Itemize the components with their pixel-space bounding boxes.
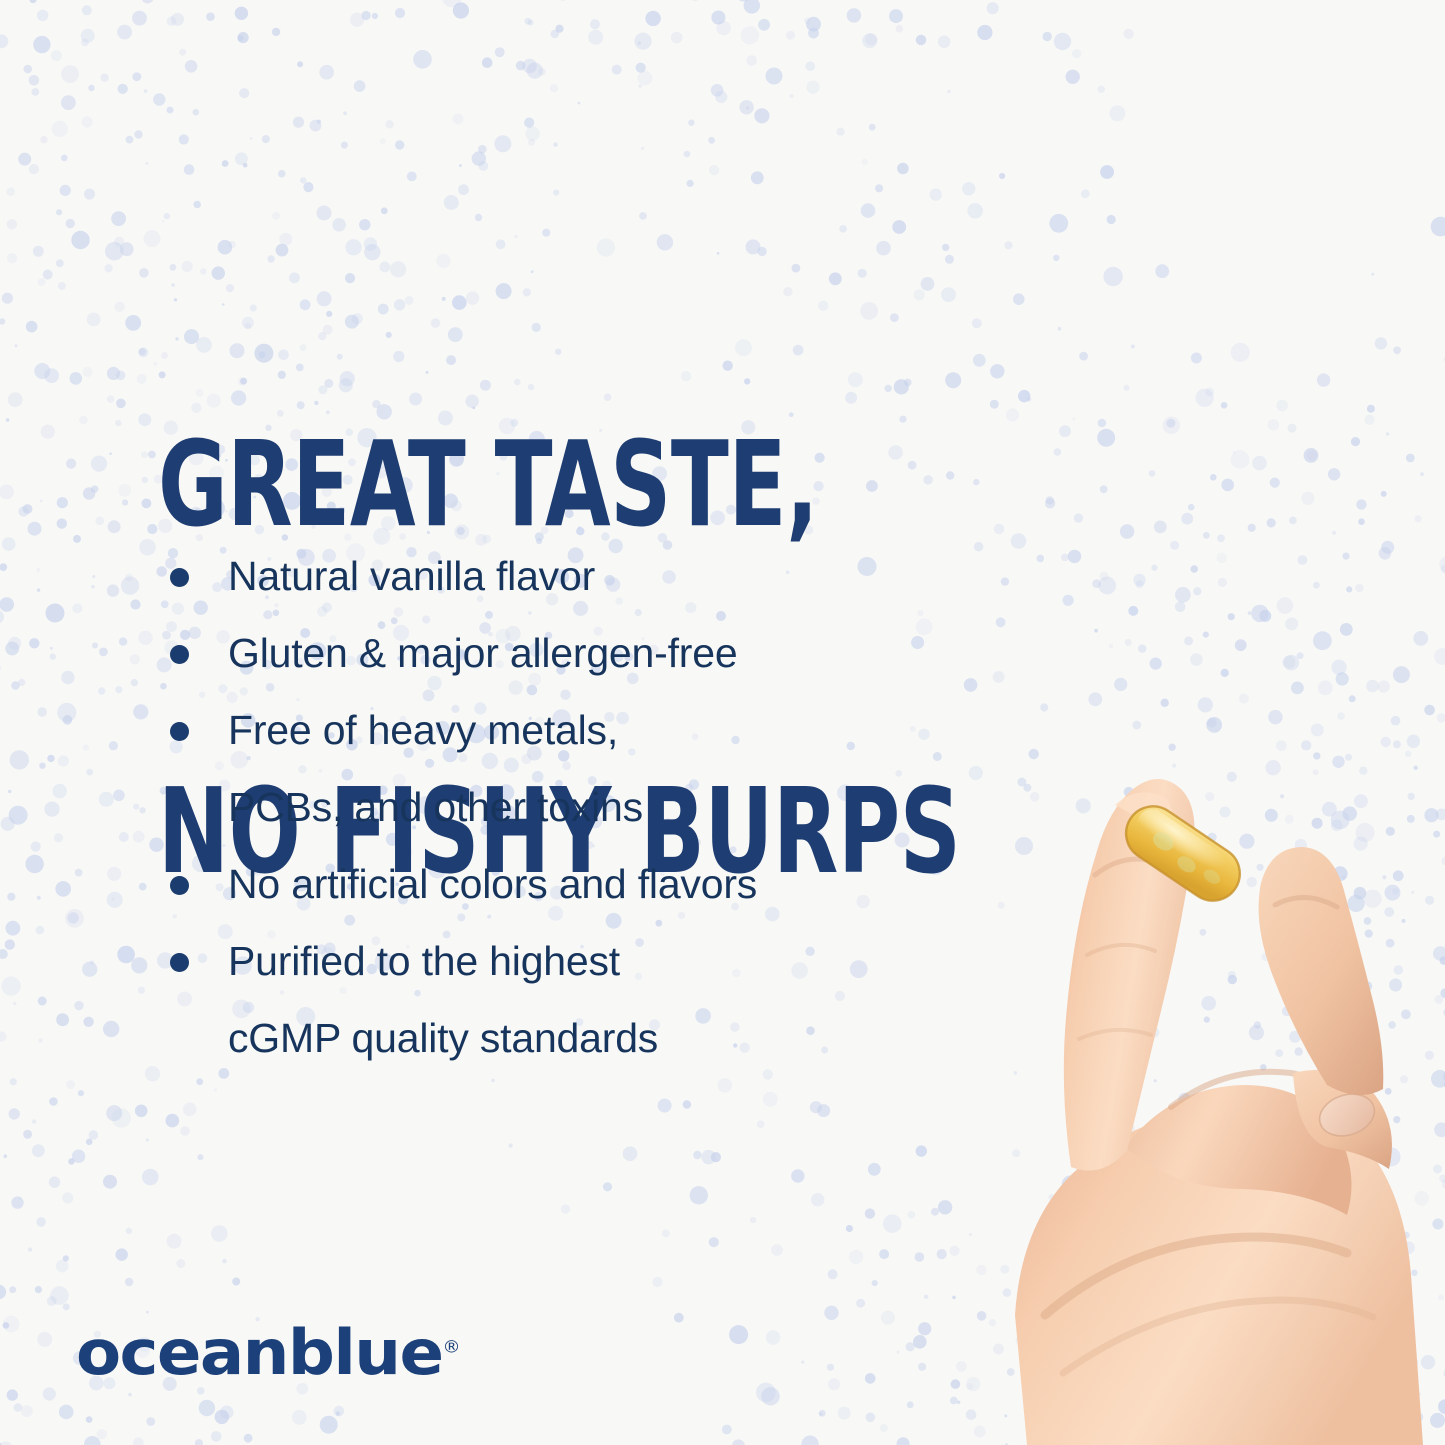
headline-line-1: GREAT TASTE, <box>158 427 766 543</box>
feature-list: Natural vanilla flavor Gluten & major al… <box>168 548 998 1087</box>
registered-trademark-icon: ® <box>442 1337 460 1357</box>
list-item: Purified to the highest cGMP quality sta… <box>168 933 998 1087</box>
hand-holding-capsule-image <box>975 755 1445 1445</box>
bullet-dot-icon <box>170 645 189 664</box>
list-item-line: Free of heavy metals, <box>228 702 998 779</box>
list-item: No artificial colors and flavors <box>168 856 998 933</box>
list-item-line: cGMP quality standards <box>228 1010 998 1087</box>
list-item: Free of heavy metals, PCBs, and other to… <box>168 702 998 856</box>
list-item: Natural vanilla flavor <box>168 548 998 625</box>
bullet-dot-icon <box>170 722 189 741</box>
bullet-dot-icon <box>170 876 189 895</box>
list-item-line: PCBs, and other toxins <box>228 779 998 856</box>
list-item-line: Purified to the highest <box>228 933 998 1010</box>
bullet-dot-icon <box>170 953 189 972</box>
logo-wordmark: oceanblue <box>76 1316 442 1389</box>
list-item-line: Gluten & major allergen-free <box>228 625 998 702</box>
list-item-line: Natural vanilla flavor <box>228 548 998 625</box>
bullet-dot-icon <box>170 568 189 587</box>
promo-graphic: GREAT TASTE, NO FISHY BURPS Natural vani… <box>0 0 1445 1445</box>
list-item: Gluten & major allergen-free <box>168 625 998 702</box>
brand-logo: oceanblue® <box>76 1322 460 1384</box>
list-item-line: No artificial colors and flavors <box>228 856 998 933</box>
